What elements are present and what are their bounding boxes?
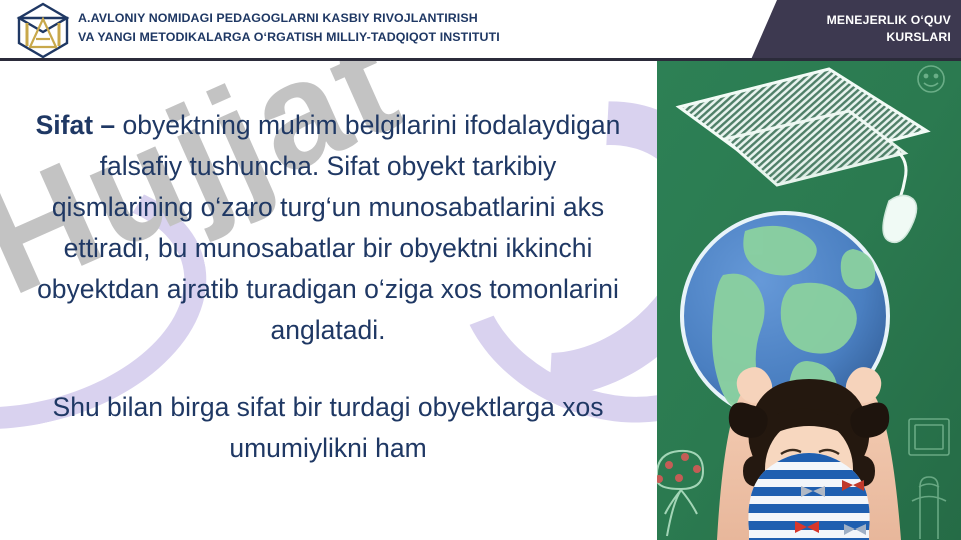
content-area: Hujjat Sifat – obyektning muhim belgilar…	[0, 61, 657, 540]
slide-body-text: Sifat – obyektning muhim belgilarini ifo…	[26, 105, 630, 469]
paragraph-spacer	[26, 351, 630, 387]
presentation-slide: Hujjat Sifat – obyektning muhim belgilar…	[0, 0, 961, 540]
slide-header: A.AVLONIY NOMIDAGI PEDAGOGLARNI KASBIY R…	[0, 0, 961, 61]
header-divider	[0, 58, 961, 61]
slide-photo	[657, 61, 961, 540]
photo-illustration	[657, 61, 961, 540]
course-banner-label: MENEJERLIK O‘QUV KURSLARI	[761, 12, 951, 46]
paragraph-one: Sifat – obyektning muhim belgilarini ifo…	[26, 105, 630, 351]
paragraph-two: Shu bilan birga sifat bir turdagi obyekt…	[26, 387, 630, 469]
institute-name: A.AVLONIY NOMIDAGI PEDAGOGLARNI KASBIY R…	[78, 9, 658, 47]
institute-cube-logo-icon	[14, 1, 72, 60]
paragraph-one-body: obyektning muhim belgilarini ifodalaydig…	[37, 110, 620, 345]
term-highlight: Sifat –	[36, 110, 123, 140]
